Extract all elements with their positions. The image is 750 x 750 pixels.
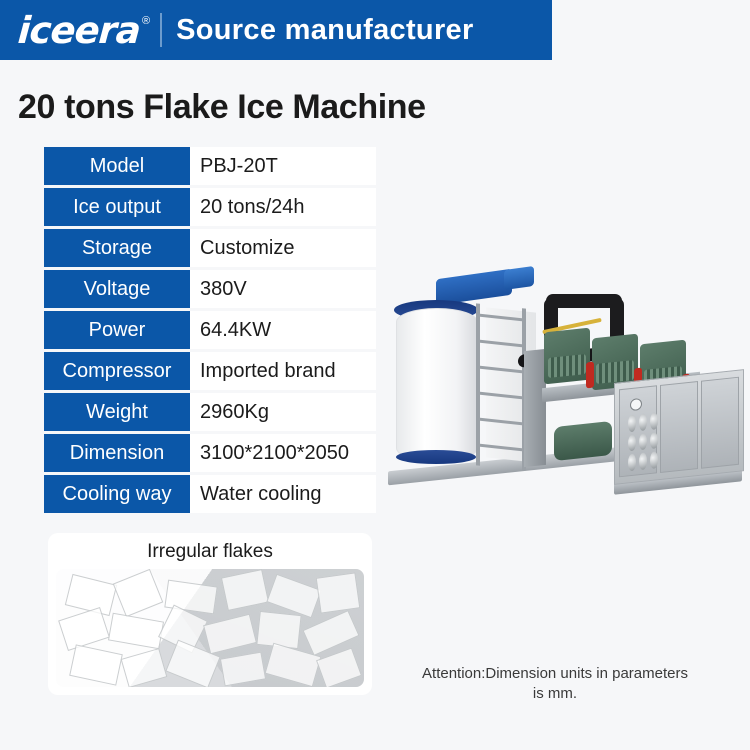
- spec-label-dimension: Dimension: [44, 434, 190, 472]
- machine-ladder: [476, 303, 526, 470]
- cabinet-door-left: [619, 385, 657, 477]
- cabinet-door-center: [660, 381, 698, 473]
- machine-compressor-unit: [544, 328, 590, 385]
- spec-value-weight: 2960Kg: [190, 393, 376, 431]
- header-slogan: Source manufacturer: [176, 14, 473, 47]
- table-row: Ice output 20 tons/24h: [44, 188, 376, 226]
- machine-support-frame: [524, 349, 546, 467]
- spec-value-power: 64.4KW: [190, 311, 376, 349]
- attention-line-2: is mm.: [395, 684, 715, 704]
- spec-value-dimension: 3100*2100*2050: [190, 434, 376, 472]
- table-row: Voltage 380V: [44, 270, 376, 308]
- cabinet-control-knobs: [628, 412, 658, 471]
- header-divider: [160, 13, 162, 47]
- flake-ice-photo: [56, 569, 364, 687]
- machine-product-photo: [378, 258, 746, 516]
- page-title: 20 tons Flake Ice Machine: [18, 88, 426, 127]
- machine-red-valve: [586, 362, 594, 389]
- spec-value-voltage: 380V: [190, 270, 376, 308]
- irregular-flakes-card: Irregular flakes: [48, 533, 372, 695]
- brand-logo[interactable]: iceera ®: [18, 12, 150, 49]
- attention-line-1: Attention:Dimension units in parameters: [395, 664, 715, 684]
- machine-water-pump: [554, 421, 612, 461]
- attention-note: Attention:Dimension units in parameters …: [395, 664, 715, 705]
- table-row: Storage Customize: [44, 229, 376, 267]
- spec-label-model: Model: [44, 147, 190, 185]
- machine-control-cabinet: [614, 369, 744, 485]
- table-row: Model PBJ-20T: [44, 147, 376, 185]
- table-row: Weight 2960Kg: [44, 393, 376, 431]
- cabinet-door-right: [701, 377, 739, 469]
- spec-value-ice-output: 20 tons/24h: [190, 188, 376, 226]
- table-row: Cooling way Water cooling: [44, 475, 376, 513]
- spec-value-cooling-way: Water cooling: [190, 475, 376, 513]
- spec-value-storage: Customize: [190, 229, 376, 267]
- spec-label-ice-output: Ice output: [44, 188, 190, 226]
- logo-text: iceera: [17, 12, 142, 49]
- flake-card-title: Irregular flakes: [48, 541, 372, 563]
- spec-label-cooling-way: Cooling way: [44, 475, 190, 513]
- spec-label-compressor: Compressor: [44, 352, 190, 390]
- specification-table: Model PBJ-20T Ice output 20 tons/24h Sto…: [44, 147, 376, 513]
- table-row: Power 64.4KW: [44, 311, 376, 349]
- machine-ice-drum: [396, 308, 478, 462]
- pressure-gauge-icon: [630, 398, 642, 411]
- spec-label-power: Power: [44, 311, 190, 349]
- registered-trademark-icon: ®: [142, 15, 150, 27]
- spec-label-voltage: Voltage: [44, 270, 190, 308]
- spec-label-weight: Weight: [44, 393, 190, 431]
- spec-label-storage: Storage: [44, 229, 190, 267]
- spec-value-model: PBJ-20T: [190, 147, 376, 185]
- table-row: Dimension 3100*2100*2050: [44, 434, 376, 472]
- machine-drive-motor: [504, 266, 534, 290]
- spec-value-compressor: Imported brand: [190, 352, 376, 390]
- header-banner: iceera ® Source manufacturer: [0, 0, 552, 60]
- machine-drum-bottom-ring: [396, 450, 476, 464]
- table-row: Compressor Imported brand: [44, 352, 376, 390]
